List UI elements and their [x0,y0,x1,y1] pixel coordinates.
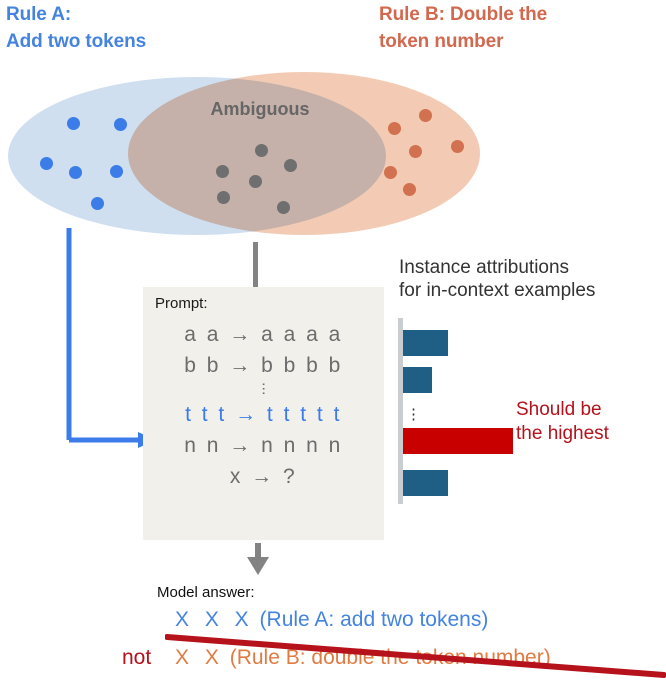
ambiguous-label: Ambiguous [170,99,350,120]
prompt-example-row: a a → a a a a [143,319,384,350]
prompt-example-row: ⋮ [143,381,384,399]
venn-to-prompt-connector [253,242,258,288]
venn-dot-rule-a [69,166,82,179]
venn-dot-rule-a [40,157,53,170]
attribution-bar [403,367,432,393]
venn-dot-ambiguous [249,175,262,188]
venn-dot-rule-a [110,165,123,178]
attribution-bar [403,470,448,496]
venn-dot-rule-a [114,118,127,131]
venn-dot-rule-a [91,197,104,210]
rule-b-title: Rule B: Double the token number [379,2,634,56]
bar-chart-vertical-dots: ⋮ [406,410,421,419]
venn-dot-rule-b [384,166,397,179]
venn-dot-rule-b [388,122,401,135]
prompt-to-answer-arrow [240,542,276,576]
prompt-rows: a a → a a a ab b → b b b b⋮t t t → t t t… [143,319,384,492]
venn-dot-rule-a [67,117,80,130]
venn-dot-ambiguous [284,159,297,172]
not-label: not [122,646,151,670]
attribution-bar [403,428,513,454]
prompt-example-row: x → ? [143,461,384,492]
strikethrough-line [165,628,666,683]
attributions-title: Instance attributions for in-context exa… [399,256,666,302]
prompt-label: Prompt: [155,295,208,312]
prompt-example-row: t t t → t t t t t [143,399,384,430]
model-answer-label: Model answer: [157,584,255,601]
venn-dot-rule-b [403,183,416,196]
should-be-highest-annotation: Should be the highest [516,398,666,446]
venn-dot-ambiguous [217,191,230,204]
venn-dot-rule-b [419,109,432,122]
venn-dot-ambiguous [255,144,268,157]
venn-dot-rule-b [409,145,422,158]
ellipse-rule-b [128,72,480,235]
venn-dot-rule-b [451,140,464,153]
prompt-box: Prompt: a a → a a a ab b → b b b b⋮t t t… [143,287,384,540]
venn-dot-ambiguous [216,165,229,178]
venn-diagram: Ambiguous [0,72,500,247]
prompt-example-row: b b → b b b b [143,350,384,381]
venn-dot-ambiguous [277,201,290,214]
rule-a-title: Rule A: Add two tokens [6,2,256,56]
attribution-bar [403,330,448,356]
prompt-example-row: n n → n n n n [143,430,384,461]
